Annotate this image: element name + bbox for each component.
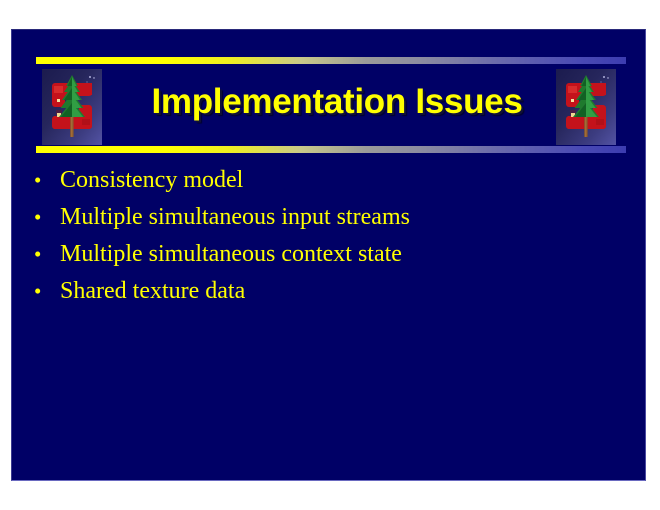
slide-title-area: Implementation Issues: [12, 30, 646, 165]
list-item: • Multiple simultaneous input streams: [34, 204, 634, 241]
list-item: • Multiple simultaneous context state: [34, 241, 634, 278]
bullet-marker-icon: •: [34, 170, 60, 191]
title-rule-bottom: [36, 146, 626, 153]
stanford-tree-logo-right: [556, 69, 616, 145]
page-title: Implementation Issues: [117, 68, 557, 136]
bullet-text: Shared texture data: [60, 278, 245, 305]
bullet-text: Consistency model: [60, 167, 243, 194]
bullet-marker-icon: •: [34, 207, 60, 228]
bullet-text: Multiple simultaneous input streams: [60, 204, 410, 231]
list-item: • Consistency model: [34, 167, 634, 204]
slide-canvas: Implementation Issues: [11, 29, 646, 481]
stanford-tree-logo-icon: [42, 69, 102, 145]
stanford-tree-logo-left: [42, 69, 102, 145]
bullet-list: • Consistency model • Multiple simultane…: [34, 167, 634, 315]
bullet-marker-icon: •: [34, 244, 60, 265]
bullet-text: Multiple simultaneous context state: [60, 241, 402, 268]
list-item: • Shared texture data: [34, 278, 634, 315]
stanford-tree-logo-icon: [556, 69, 616, 145]
title-rule-top: [36, 57, 626, 64]
bullet-marker-icon: •: [34, 281, 60, 302]
